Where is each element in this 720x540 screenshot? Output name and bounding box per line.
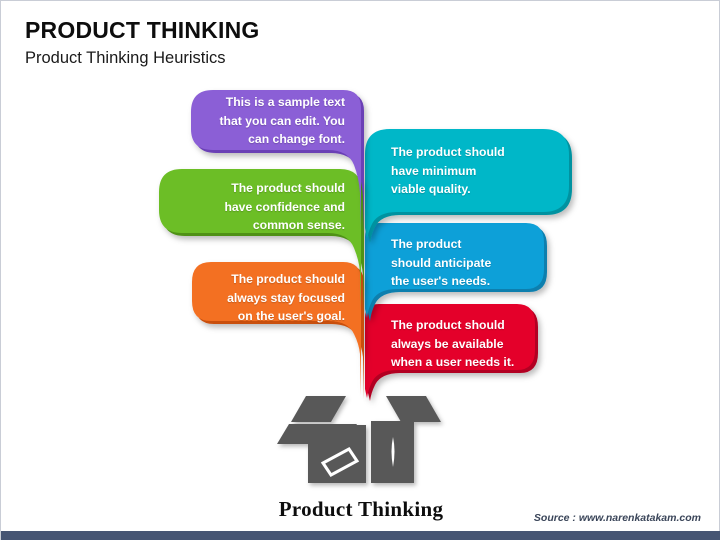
slide-canvas: PRODUCT THINKING Product Thinking Heuris… — [0, 0, 720, 540]
bubble-blue-text: The product should anticipate the user's… — [391, 235, 559, 291]
open-box-icon — [277, 396, 441, 483]
bubble-green-text: The product should have confidence and c… — [165, 179, 345, 235]
bubble-cyan-text: The product should have minimum viable q… — [391, 143, 559, 199]
bottom-accent-bar — [1, 531, 720, 540]
bubble-purple-text: This is a sample text that you can edit.… — [197, 93, 345, 149]
source-credit: Source : www.narenkatakam.com — [534, 512, 701, 524]
bubble-red-text: The product should always be available w… — [391, 316, 559, 372]
diagram-stage — [1, 1, 720, 540]
bubble-orange-text: The product should always stay focused o… — [197, 270, 345, 326]
